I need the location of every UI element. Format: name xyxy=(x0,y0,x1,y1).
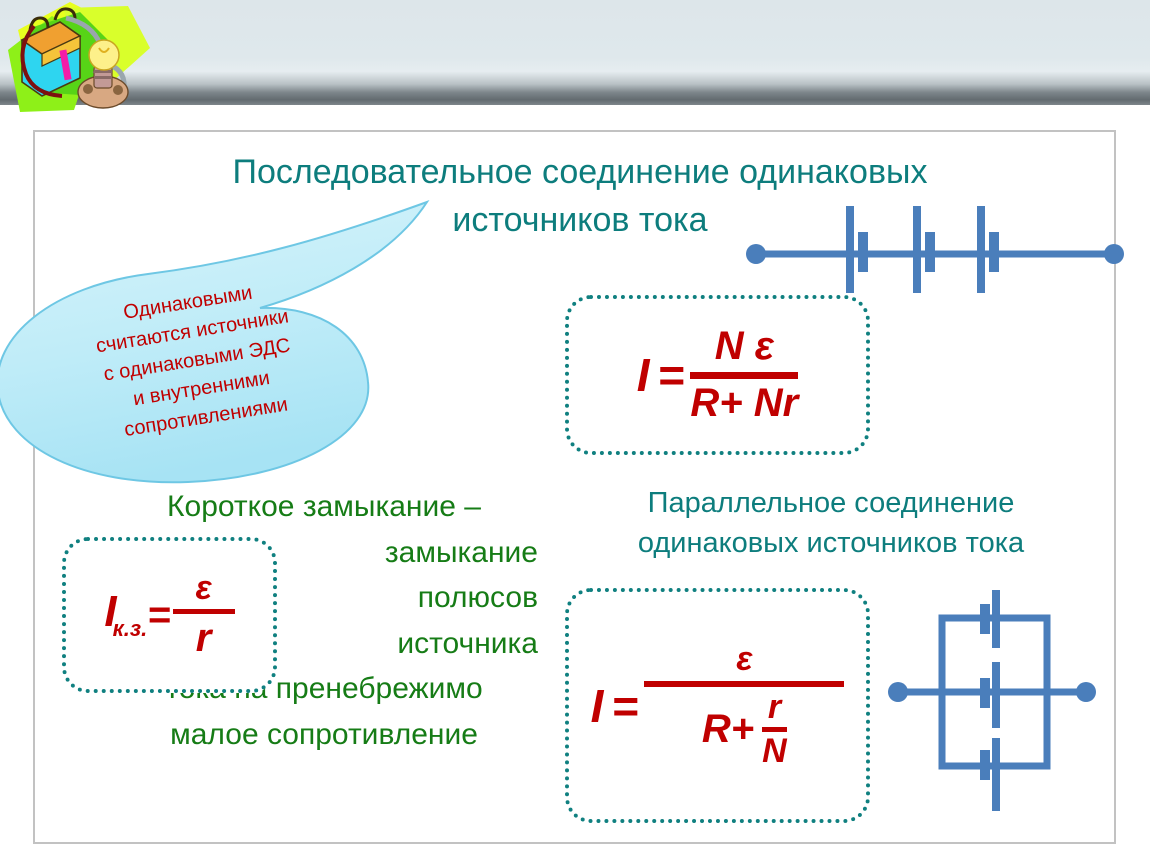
series-formula-equals: = xyxy=(658,352,685,398)
short-circuit-formula-lhs: Iк.з. xyxy=(104,590,147,640)
short-circuit-formula: Iк.з. = ε r xyxy=(66,541,273,689)
parallel-title-line2: одинаковых источников тока xyxy=(566,523,1096,563)
fraction-bar xyxy=(173,609,235,614)
fraction-bar xyxy=(644,681,844,687)
parallel-denominator-left: R+ xyxy=(702,708,754,751)
short-circuit-subscript: к.з. xyxy=(113,616,148,641)
short-circuit-line-1: Короткое замыкание – xyxy=(110,484,538,530)
parallel-formula-numerator: ε xyxy=(736,641,752,678)
series-formula-fraction: N ε R+ Nr xyxy=(690,325,798,424)
parallel-inner-denominator: N xyxy=(762,734,787,770)
parallel-formula: I = ε R+ r N xyxy=(569,592,866,819)
parallel-formula-denominator: R+ r N xyxy=(702,690,787,770)
series-formula-lhs: I xyxy=(637,352,650,398)
terminal-dot-left xyxy=(746,244,766,264)
parallel-formula-equals: = xyxy=(611,683,638,729)
parallel-connection-title: Параллельное соединение одинаковых источ… xyxy=(566,483,1096,563)
series-formula-box: I = N ε R+ Nr xyxy=(565,295,870,455)
terminal-dot-left xyxy=(888,682,908,702)
terminal-dot-right xyxy=(1104,244,1124,264)
series-formula: I = N ε R+ Nr xyxy=(569,299,866,451)
parallel-formula-fraction: ε R+ r N xyxy=(644,641,844,770)
series-battery-circuit xyxy=(740,198,1130,293)
short-circuit-fraction: ε r xyxy=(173,570,235,661)
terminal-dot-right xyxy=(1076,682,1096,702)
parallel-title-line1: Параллельное соединение xyxy=(566,483,1096,523)
short-circuit-line-6: малое сопротивление xyxy=(110,712,538,758)
parallel-inner-numerator: r xyxy=(768,690,781,726)
series-formula-denominator: R+ Nr xyxy=(690,382,798,425)
battery-lamp-clipart xyxy=(0,0,175,122)
parallel-formula-box: I = ε R+ r N xyxy=(565,588,870,823)
short-circuit-formula-box: Iк.з. = ε r xyxy=(62,537,277,693)
parallel-battery-circuit xyxy=(880,588,1110,813)
fraction-bar xyxy=(690,372,798,379)
short-circuit-numerator: ε xyxy=(195,570,211,607)
parallel-formula-lhs: I xyxy=(591,683,604,729)
series-formula-numerator: N ε xyxy=(715,325,774,368)
short-circuit-denominator: r xyxy=(196,617,212,660)
short-circuit-formula-equals: = xyxy=(147,595,170,635)
parallel-inner-fraction: r N xyxy=(762,690,787,770)
